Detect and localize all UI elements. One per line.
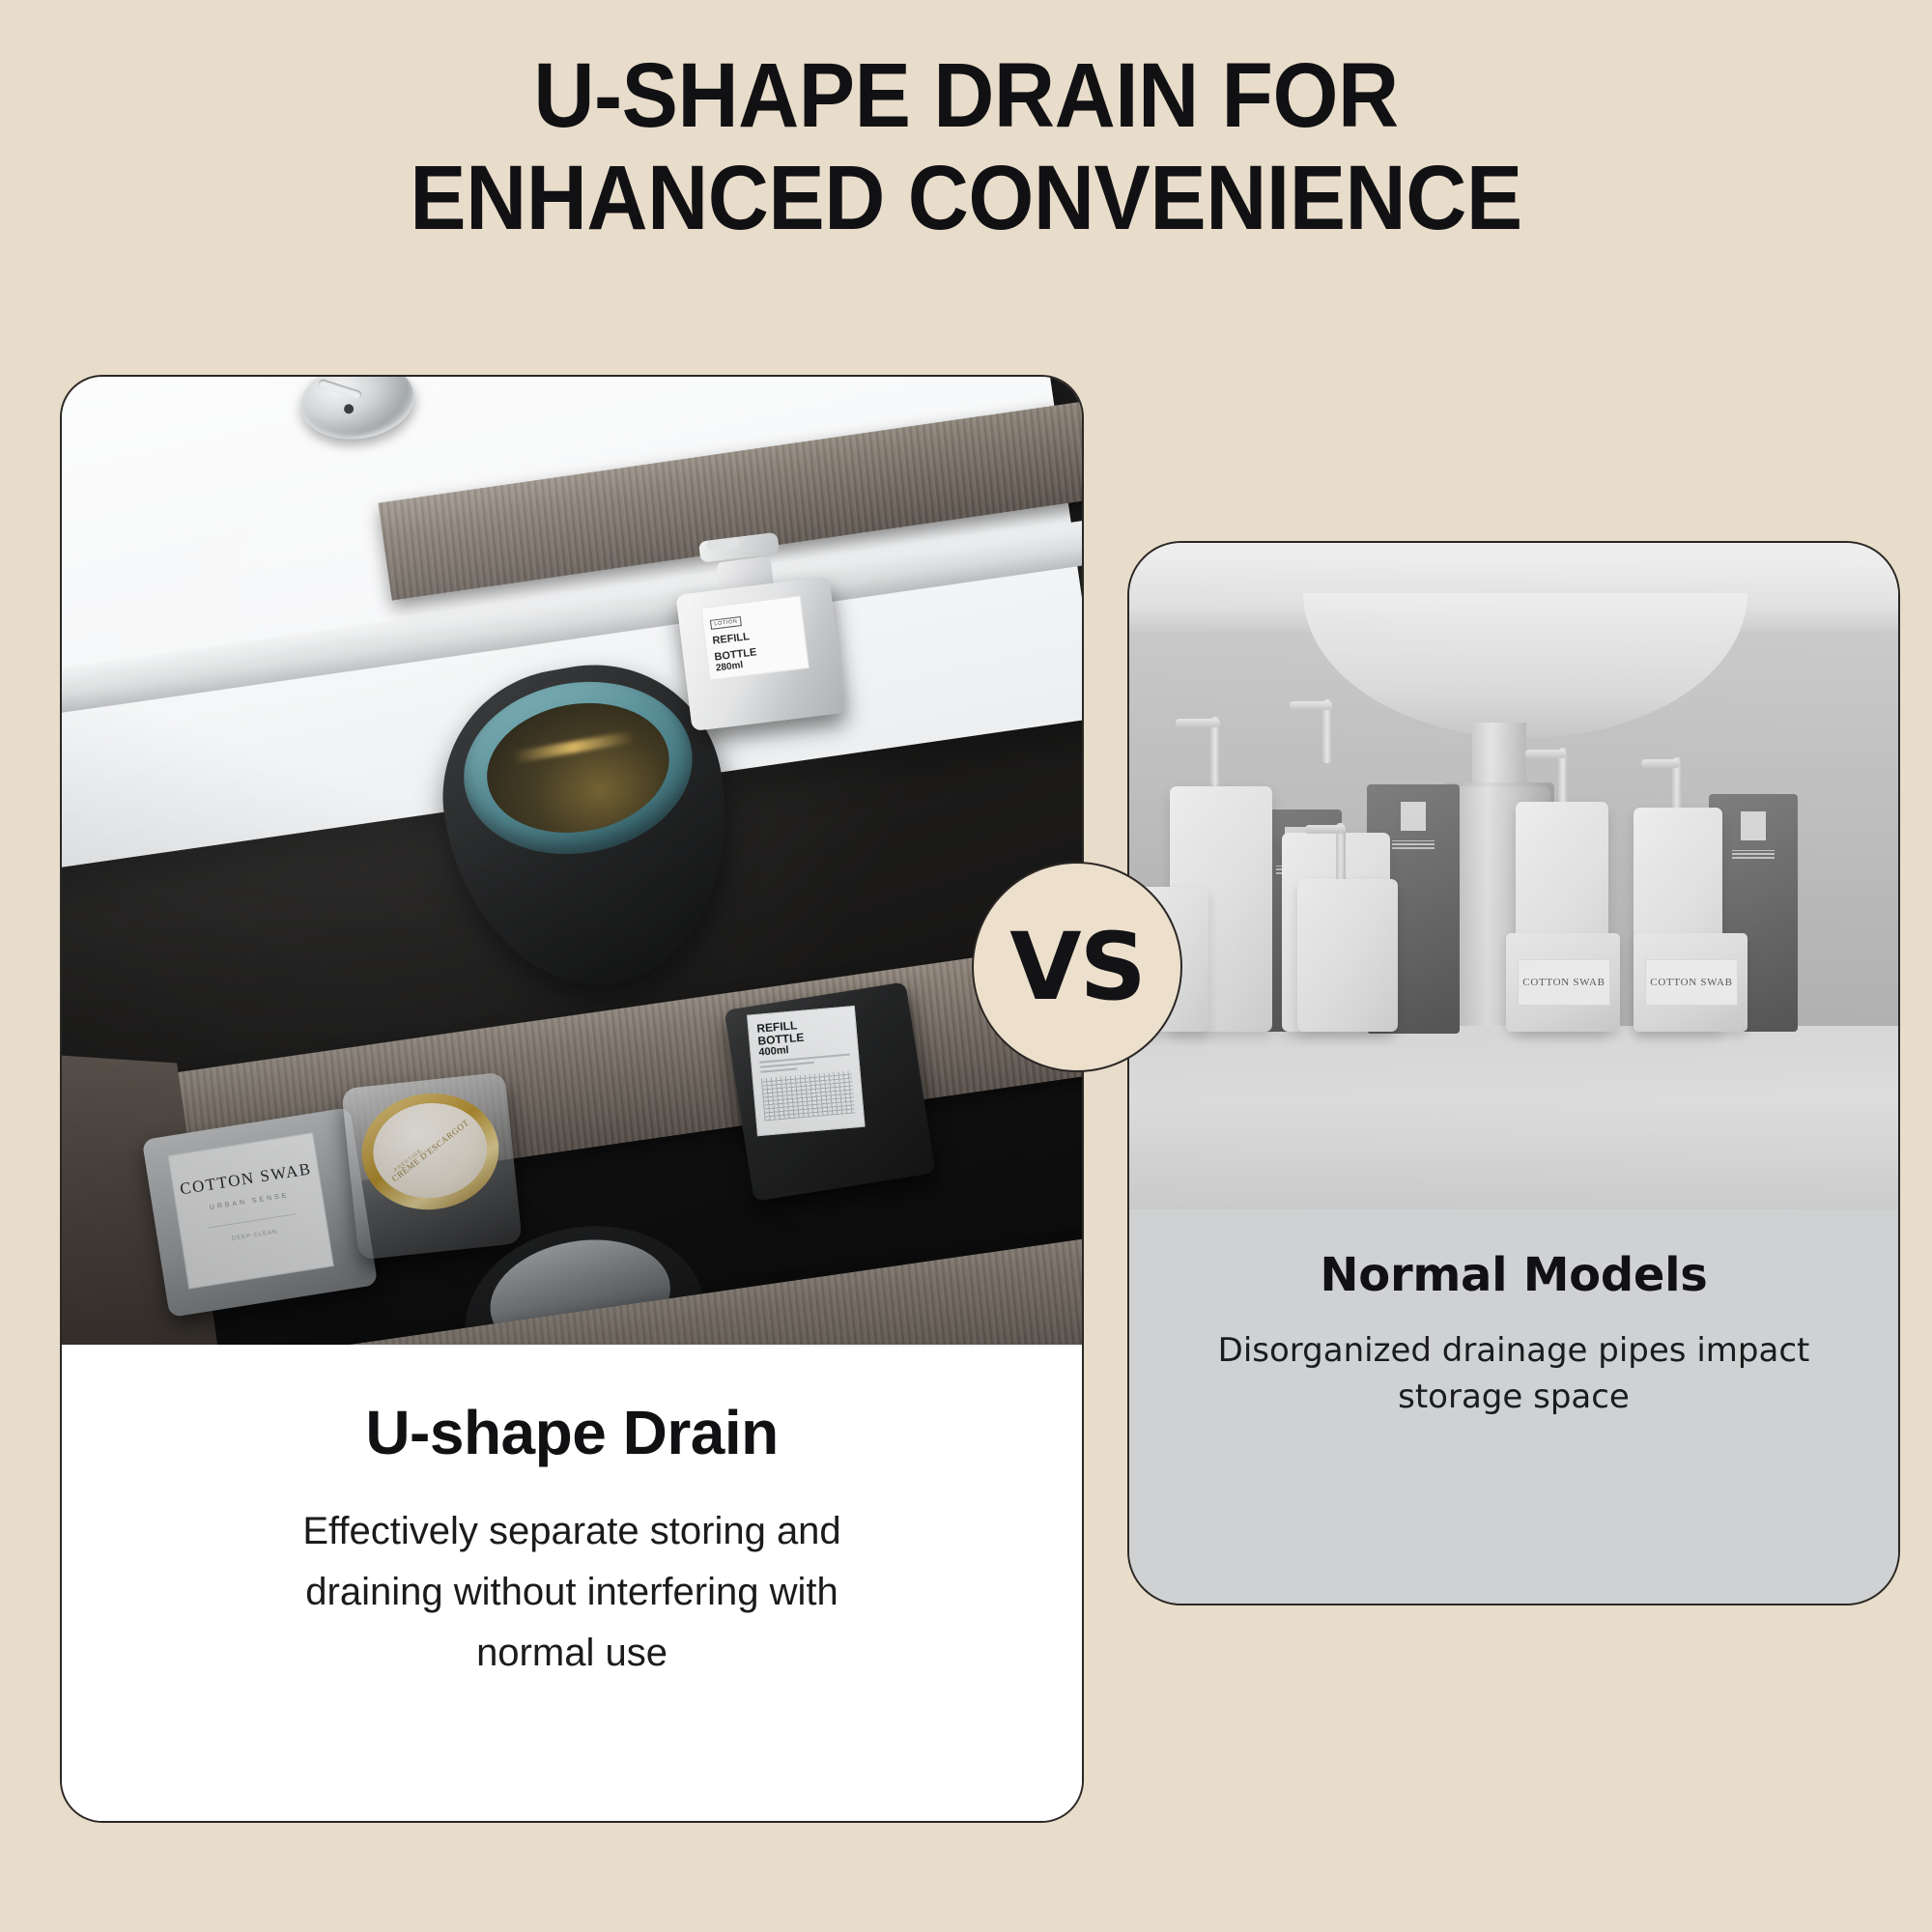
u-drain-opening [476, 689, 679, 846]
page-title: U-SHAPE DRAIN FOR ENHANCED CONVENIENCE [77, 44, 1855, 250]
cotton-swab-sub: URBAN SENSE [210, 1192, 290, 1211]
page-title-line-2: ENHANCED CONVENIENCE [77, 147, 1855, 249]
pump-bottle-label: LOTION REFILL BOTTLE 280ml [700, 595, 809, 680]
pump-spout [706, 537, 740, 552]
dark-refill-bottle: REFILL BOTTLE 400ml [724, 981, 936, 1201]
dark-label-fineprint [761, 1071, 855, 1122]
right-comparison-card[interactable]: COTTON SWAB COTTON SWAB Normal Models Di… [1127, 541, 1900, 1605]
right-card-heading: Normal Models [1320, 1248, 1707, 1302]
right-product-photo: COTTON SWAB COTTON SWAB [1129, 543, 1898, 1209]
left-card-caption: U-shape Drain Effectively separate stori… [62, 1345, 1082, 1821]
left-product-photo: LOTION REFILL BOTTLE 280ml COTTON SWAB U… [62, 377, 1082, 1345]
drain-slot [318, 379, 363, 401]
dark-label-rule-3 [760, 1068, 797, 1073]
cream-jar-title: CRÈME D'ESCARGOT [389, 1118, 470, 1184]
lotion-refill-pump-bottle: LOTION REFILL BOTTLE 280ml [668, 521, 845, 731]
infographic-stage: U-SHAPE DRAIN FOR ENHANCED CONVENIENCE [0, 0, 1932, 1932]
drain-screw-dot [343, 404, 354, 414]
vs-badge-label: VS [1009, 913, 1144, 1021]
vs-badge: VS [972, 862, 1182, 1072]
cream-jar: CRÈME D'ESCARGOT PRESTIGE [341, 1072, 523, 1261]
right-card-description: Disorganized drainage pipes impact stora… [1205, 1327, 1823, 1421]
cotton-swab-rule [209, 1213, 297, 1228]
pump-label-tag: LOTION [710, 616, 742, 630]
right-photo-shading-overlay [1129, 543, 1898, 1209]
page-title-line-1: U-SHAPE DRAIN FOR [77, 44, 1855, 147]
cotton-swab-label: COTTON SWAB URBAN SENSE DEEP CLEAN [168, 1132, 334, 1289]
dark-bottle-label: REFILL BOTTLE 400ml [747, 1006, 866, 1136]
left-card-heading: U-shape Drain [365, 1397, 778, 1468]
right-card-caption: Normal Models Disorganized drainage pipe… [1129, 1209, 1898, 1605]
left-card-description: Effectively separate storing and drainin… [243, 1501, 900, 1685]
cotton-swab-title: COTTON SWAB [179, 1159, 313, 1199]
cotton-swab-fine: DEEP CLEAN [232, 1229, 278, 1241]
cotton-swab-box: COTTON SWAB URBAN SENSE DEEP CLEAN [142, 1107, 378, 1318]
left-comparison-card[interactable]: LOTION REFILL BOTTLE 280ml COTTON SWAB U… [60, 375, 1084, 1823]
